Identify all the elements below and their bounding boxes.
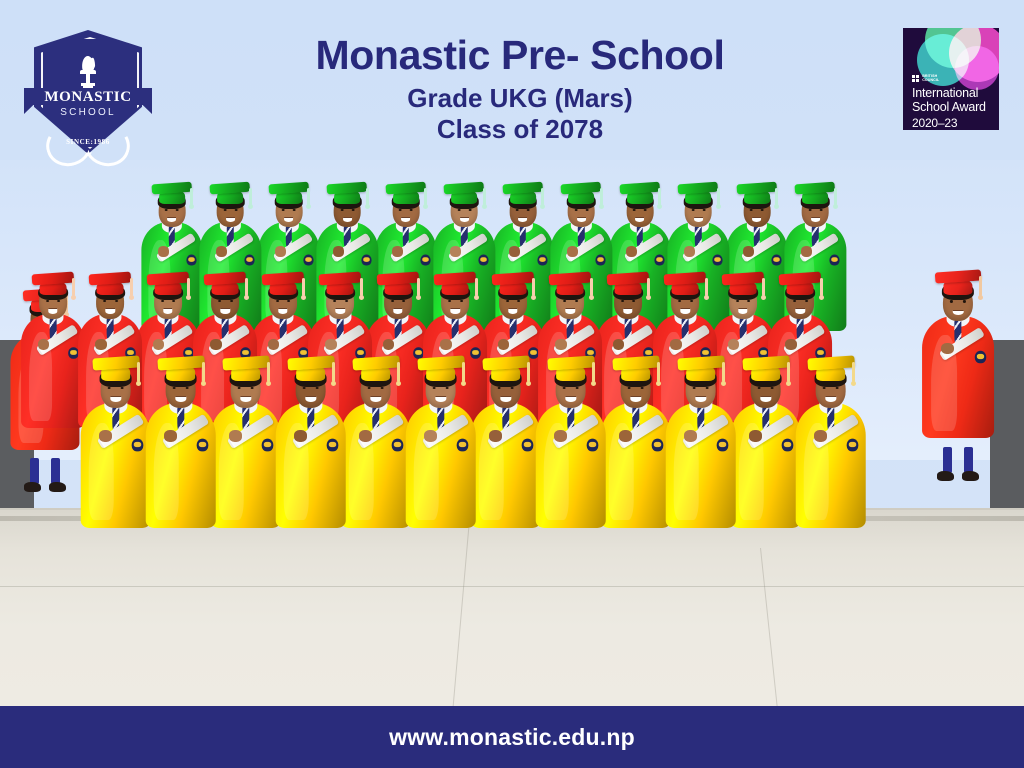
cap-tassel — [722, 362, 725, 382]
student-hand — [801, 246, 812, 256]
student-hand — [489, 430, 502, 442]
student-hand — [325, 339, 337, 350]
shoe — [49, 482, 66, 492]
student-hand — [359, 430, 372, 442]
cap-tassel-knob — [589, 295, 594, 300]
gown-crest-patch — [586, 438, 598, 451]
cap-tassel — [249, 188, 252, 205]
shoe — [937, 471, 954, 481]
cap-tassel — [187, 278, 190, 296]
cap-tassel — [590, 278, 593, 296]
cap-tassel-knob — [248, 204, 253, 209]
gown-crest-patch — [713, 254, 723, 265]
cap-tassel — [366, 188, 369, 205]
student-hand — [153, 339, 165, 350]
class-year-subtitle: Class of 2078 — [240, 114, 800, 145]
gown-crest-patch — [413, 347, 424, 359]
cap-tassel-knob — [474, 295, 479, 300]
student-hand — [440, 339, 452, 350]
cap-tassel — [475, 278, 478, 296]
gown-crest-patch — [362, 254, 372, 265]
gown-crest-patch — [261, 438, 273, 451]
gown-crest-patch — [456, 438, 468, 451]
badge-title: International School Award — [912, 86, 996, 115]
gown-crest-patch — [654, 254, 664, 265]
footer-bar: www.monastic.edu.np — [0, 706, 1024, 768]
gown-crest-patch — [537, 254, 547, 265]
gown-crest-patch — [830, 254, 840, 265]
student-hand — [450, 246, 461, 256]
gown-crest-patch — [521, 438, 533, 451]
cap-tassel-knob — [365, 204, 370, 209]
cap-tassel — [852, 362, 855, 382]
cap-tassel — [657, 362, 660, 382]
cap-tassel — [332, 362, 335, 382]
cap-tassel — [775, 188, 778, 205]
student-hand — [684, 430, 697, 442]
gown-crest-patch — [68, 347, 79, 359]
gown-crest-patch — [326, 438, 338, 451]
crest-school-name: MONASTIC — [22, 89, 154, 106]
cap-tassel — [979, 276, 982, 296]
student-hand — [619, 430, 632, 442]
student-hand — [785, 339, 797, 350]
website-url: www.monastic.edu.np — [389, 724, 635, 751]
student-hand — [743, 246, 754, 256]
student-hand — [424, 430, 437, 442]
cap-tassel-knob — [978, 295, 983, 300]
gown-crest-patch — [651, 438, 663, 451]
cap-tassel — [72, 278, 75, 296]
cap-tassel — [658, 188, 661, 205]
cap-tassel — [834, 188, 837, 205]
badge-org-line-2: COUNCIL — [922, 78, 939, 82]
cap-tassel — [130, 278, 133, 296]
cap-tassel — [762, 278, 765, 296]
student-hand — [275, 246, 286, 256]
cap-tassel-knob — [244, 295, 249, 300]
gown-crest-patch — [245, 254, 255, 265]
header: ★ MONASTIC SCHOOL SINCE:1986 Monastic Pr… — [0, 0, 1024, 170]
student-hand — [210, 339, 222, 350]
cap-tassel — [267, 362, 270, 382]
gown-crest-patch — [974, 351, 985, 363]
cap-tassel — [787, 362, 790, 382]
cap-tassel — [307, 188, 310, 205]
student-hand — [216, 246, 227, 256]
student-hand — [99, 430, 112, 442]
shoe — [962, 471, 979, 481]
student-hand — [567, 246, 578, 256]
student-hand — [294, 430, 307, 442]
cap-tassel — [190, 188, 193, 205]
cap-tassel-knob — [599, 204, 604, 209]
title-block: Monastic Pre- School Grade UKG (Mars) Cl… — [240, 34, 800, 145]
student-hand — [268, 339, 280, 350]
student-hand — [941, 343, 953, 354]
cap-tassel — [592, 362, 595, 382]
student-hand — [38, 339, 50, 350]
student-hand — [814, 430, 827, 442]
cap-tassel — [705, 278, 708, 296]
gown-crest-patch — [196, 438, 208, 451]
gown-crest-patch — [716, 438, 728, 451]
page-title: Monastic Pre- School — [240, 34, 800, 77]
cap-tassel-knob — [482, 204, 487, 209]
torch-icon — [78, 56, 98, 90]
gown-crest-patch — [479, 254, 489, 265]
cap-tassel — [137, 362, 140, 382]
cap-tassel — [202, 362, 205, 382]
cap-tassel — [820, 278, 823, 296]
shoe — [24, 482, 41, 492]
cap-tassel — [483, 188, 486, 205]
gown-crest-patch — [131, 438, 143, 451]
student-hand — [613, 339, 625, 350]
student-hand — [728, 339, 740, 350]
british-council-logo: BRITISH COUNCIL — [912, 74, 939, 82]
student-hand — [383, 339, 395, 350]
cap-tassel-knob — [129, 295, 134, 300]
gown-crest-patch — [420, 254, 430, 265]
cap-tassel — [417, 278, 420, 296]
student-hand — [555, 339, 567, 350]
cap-tassel — [360, 278, 363, 296]
cap-tassel — [717, 188, 720, 205]
student-hand — [554, 430, 567, 442]
cap-tassel-knob — [819, 295, 824, 300]
student-hand — [229, 430, 242, 442]
cap-tassel — [541, 188, 544, 205]
crest-school-word: SCHOOL — [22, 107, 154, 118]
student-hand — [333, 246, 344, 256]
cap-tassel-knob — [833, 204, 838, 209]
cap-tassel — [424, 188, 427, 205]
cap-tassel — [600, 188, 603, 205]
cap-tassel-knob — [716, 204, 721, 209]
student-hand — [392, 246, 403, 256]
badge-years: 2020–23 — [912, 116, 957, 130]
gown-crest-patch — [846, 438, 858, 451]
gown-crest-patch — [303, 254, 313, 265]
cap-tassel — [532, 278, 535, 296]
cap-tassel — [245, 278, 248, 296]
cap-tassel — [527, 362, 530, 382]
gown-crest-patch — [391, 438, 403, 451]
crest-since-text: SINCE:1986 — [22, 138, 154, 146]
international-school-award-badge: BRITISH COUNCIL International School Awa… — [903, 28, 999, 130]
gown-crest-patch — [771, 254, 781, 265]
student-hand — [626, 246, 637, 256]
gown-crest-patch — [781, 438, 793, 451]
student-hand — [164, 430, 177, 442]
student-legs — [936, 447, 980, 493]
cap-tassel-knob — [704, 295, 709, 300]
student-hand — [509, 246, 520, 256]
school-crest-logo: ★ MONASTIC SCHOOL SINCE:1986 — [22, 28, 154, 160]
stage-floor — [0, 508, 1024, 708]
student-hand — [684, 246, 695, 256]
gown-crest-patch — [596, 254, 606, 265]
gown-crest-patch — [470, 347, 481, 359]
student-hand — [95, 339, 107, 350]
cap-tassel-knob — [359, 295, 364, 300]
british-council-squares-icon — [912, 75, 919, 82]
class-group-photo — [0, 160, 1024, 708]
poster-canvas: ★ MONASTIC SCHOOL SINCE:1986 Monastic Pr… — [0, 0, 1024, 768]
student-hand — [749, 430, 762, 442]
gown-crest-patch — [528, 347, 539, 359]
student-legs — [23, 458, 67, 504]
cap-tassel — [462, 362, 465, 382]
student-hand — [498, 339, 510, 350]
gown-crest-patch — [186, 254, 196, 265]
student-hand — [158, 246, 169, 256]
student-hand — [670, 339, 682, 350]
cap-tassel — [647, 278, 650, 296]
grade-subtitle: Grade UKG (Mars) — [240, 83, 800, 114]
cap-tassel — [397, 362, 400, 382]
cap-tassel — [302, 278, 305, 296]
